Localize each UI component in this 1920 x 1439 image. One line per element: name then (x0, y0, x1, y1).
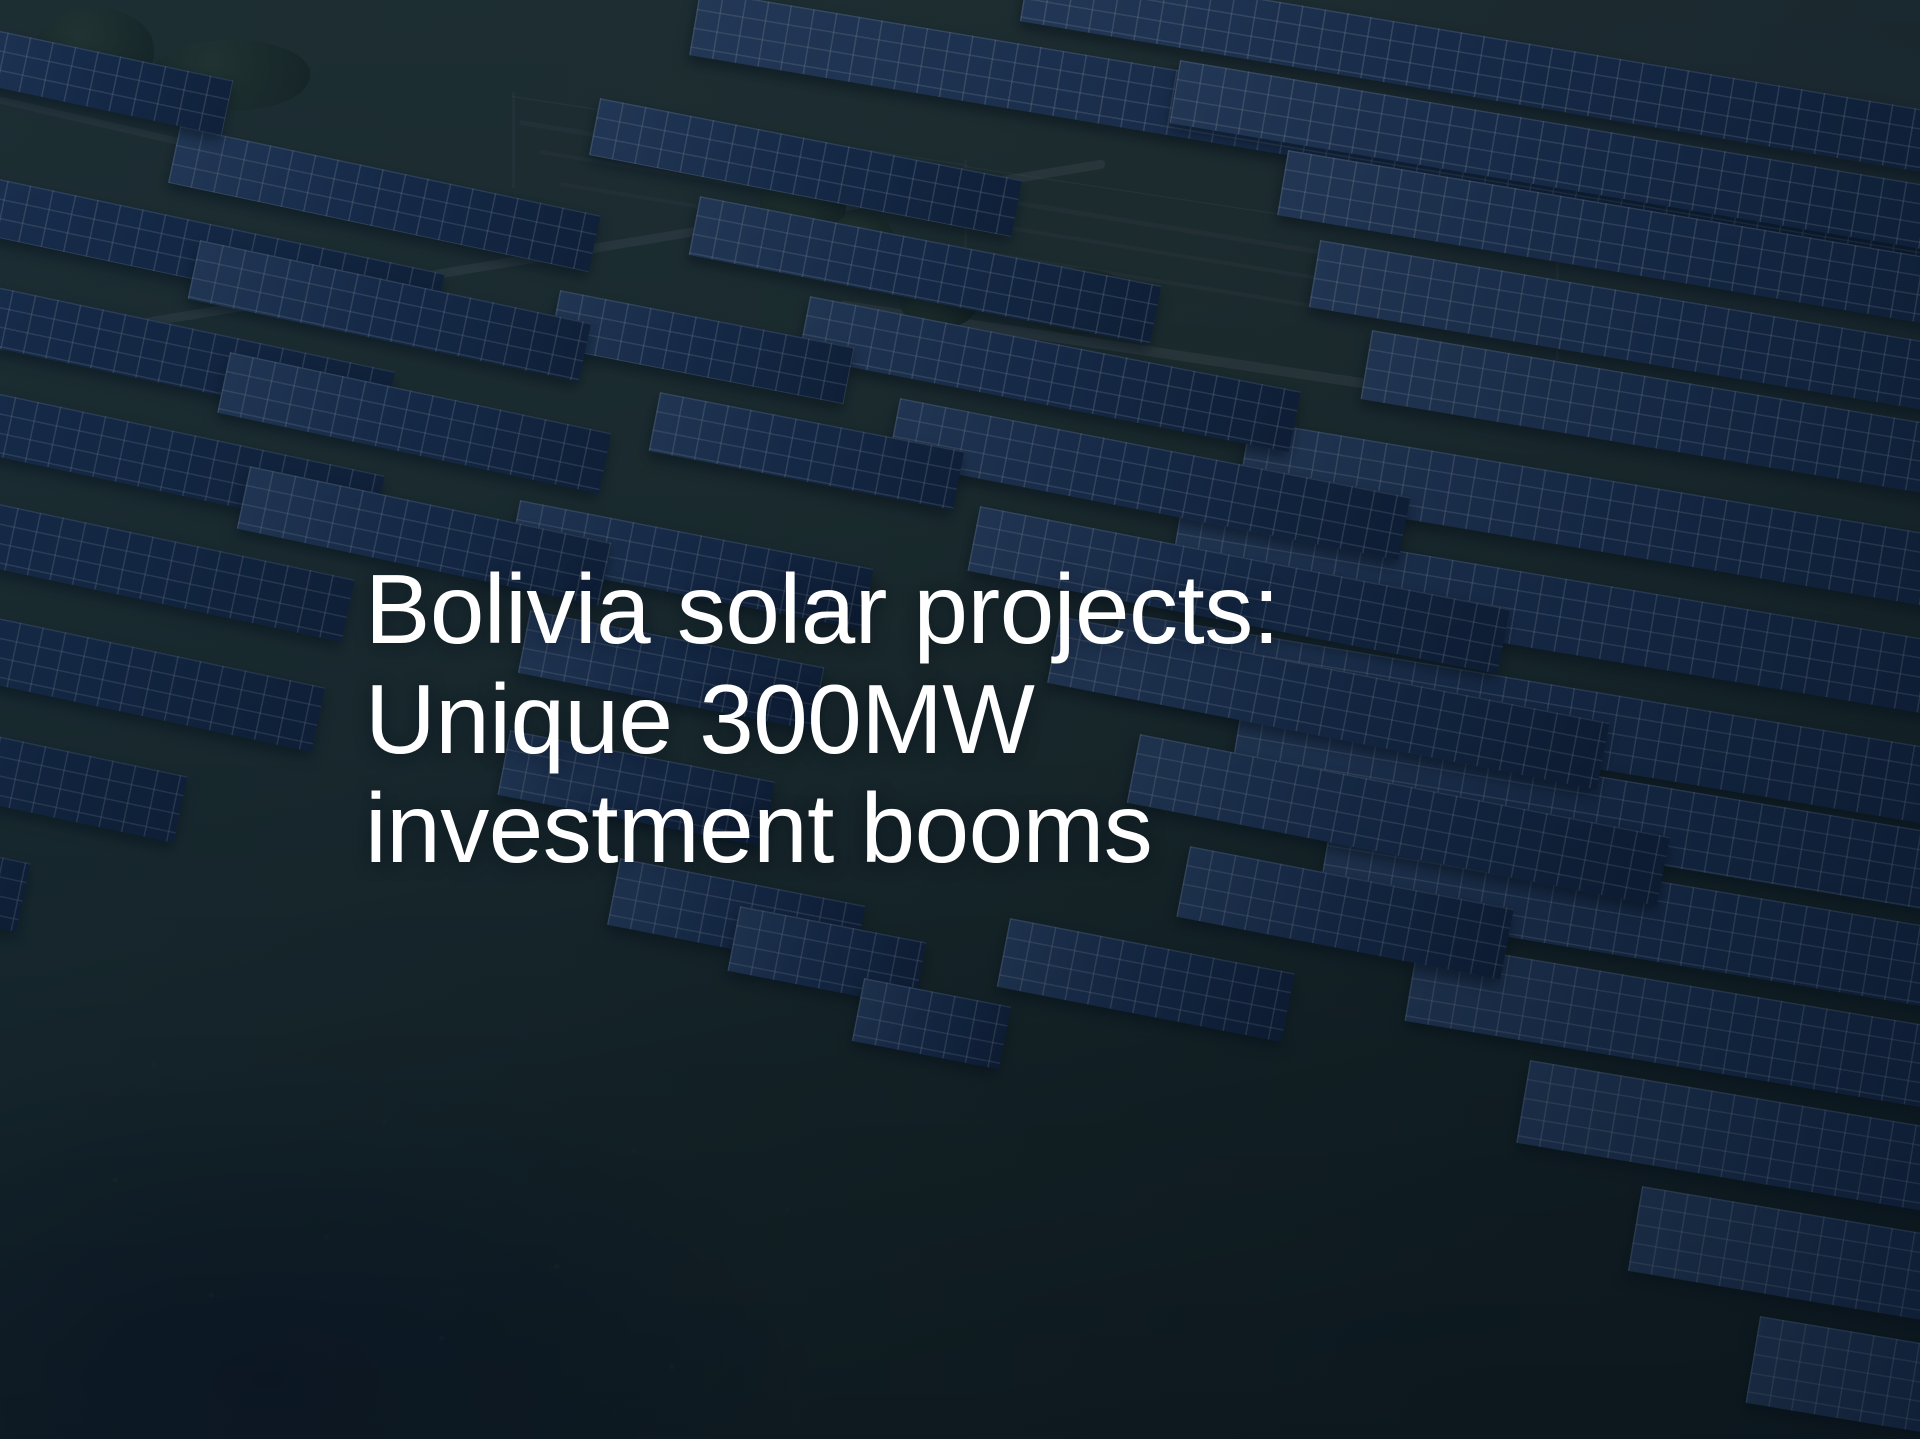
page-title: Bolivia solar projects: Unique 300MW inv… (365, 555, 1505, 884)
headline-container: Bolivia solar projects: Unique 300MW inv… (0, 0, 1920, 1439)
hero-banner: Bolivia solar projects: Unique 300MW inv… (0, 0, 1920, 1439)
